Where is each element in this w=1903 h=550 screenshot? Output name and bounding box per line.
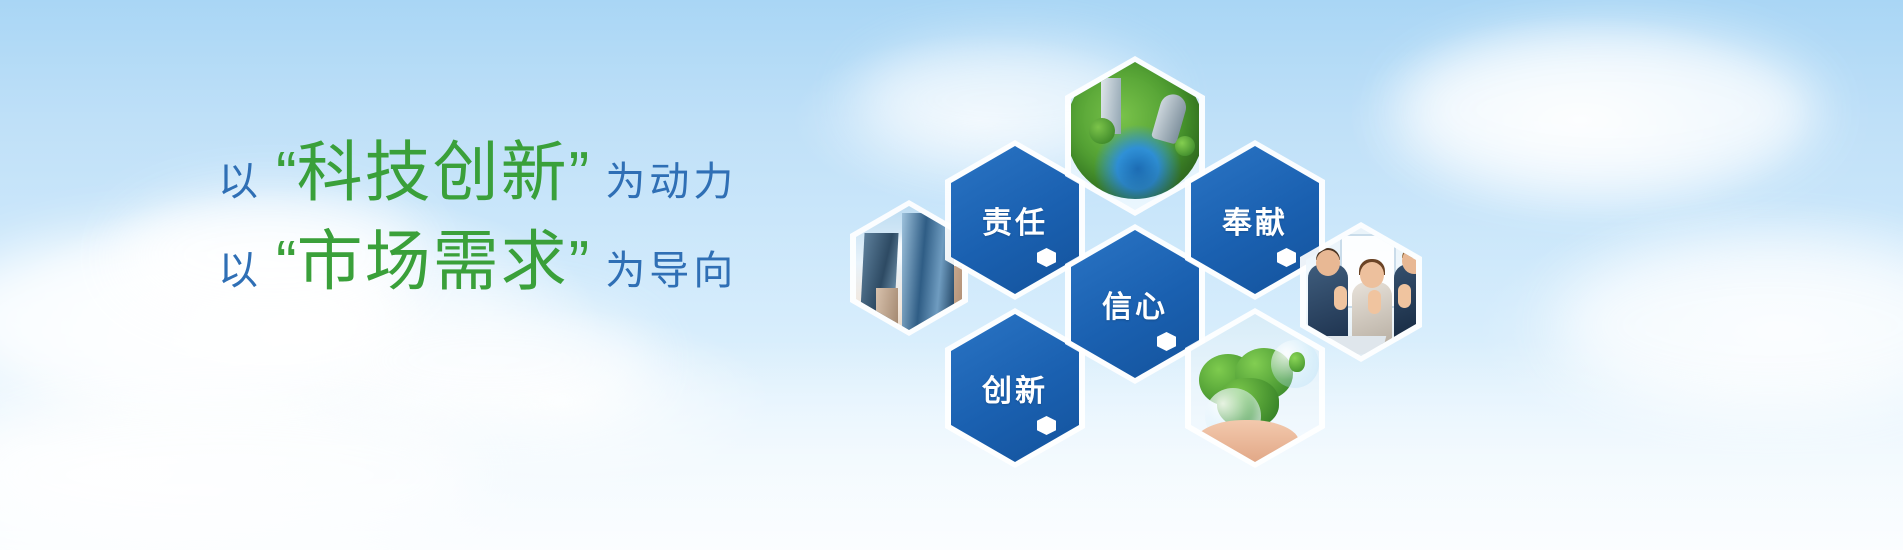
headline-prefix: 以 [218, 238, 262, 296]
hex-fill: 奉献 [1191, 146, 1319, 294]
headline-suffix: 为动力 [605, 149, 737, 207]
hex-fill: 信心 [1071, 230, 1199, 378]
hex-label-dedication: 奉献 [1222, 198, 1288, 242]
headline-block: 以 “ 科技创新 ” 为动力 以 “ 市场需求 ” 为导向 [218, 140, 838, 318]
headline-keyword: 科技创新 [297, 140, 569, 206]
open-quote-mark: “ [276, 233, 297, 295]
hex-cell-green-hands [1185, 308, 1325, 468]
headline-suffix: 为导向 [605, 238, 737, 296]
hex-photo-green-hands [1191, 314, 1319, 462]
green-trees-in-hand-icon [1191, 314, 1319, 462]
headline-prefix: 以 [218, 149, 262, 207]
headline-keyword: 市场需求 [297, 229, 569, 295]
hex-label-innovation: 创新 [982, 366, 1048, 410]
hex-label-confidence: 信心 [1102, 282, 1168, 326]
cloud-shape [330, 300, 650, 420]
headline-line-1: 以 “ 科技创新 ” 为动力 [218, 140, 838, 207]
hex-cell-eco-globe [1065, 56, 1205, 216]
close-quote-mark: ” [569, 144, 590, 206]
hex-cluster: 责任 创新 信心 [990, 40, 1900, 460]
business-team-thumbs-up-icon [1306, 228, 1416, 356]
banner-root: 以 “ 科技创新 ” 为动力 以 “ 市场需求 ” 为导向 责任 [0, 0, 1903, 550]
hex-cell-innovation[interactable]: 创新 [945, 308, 1085, 468]
hex-label-responsibility: 责任 [982, 198, 1048, 242]
hex-photo-team [1306, 228, 1416, 356]
open-quote-mark: “ [276, 144, 297, 206]
hex-cell-confidence[interactable]: 信心 [1065, 224, 1205, 384]
green-eco-globe-icon [1071, 62, 1199, 210]
hex-fill: 责任 [951, 146, 1079, 294]
hex-photo-eco-globe [1071, 62, 1199, 210]
close-quote-mark: ” [569, 233, 590, 295]
headline-line-2: 以 “ 市场需求 ” 为导向 [218, 229, 838, 296]
hex-fill: 创新 [951, 314, 1079, 462]
cloud-shape [0, 400, 480, 550]
